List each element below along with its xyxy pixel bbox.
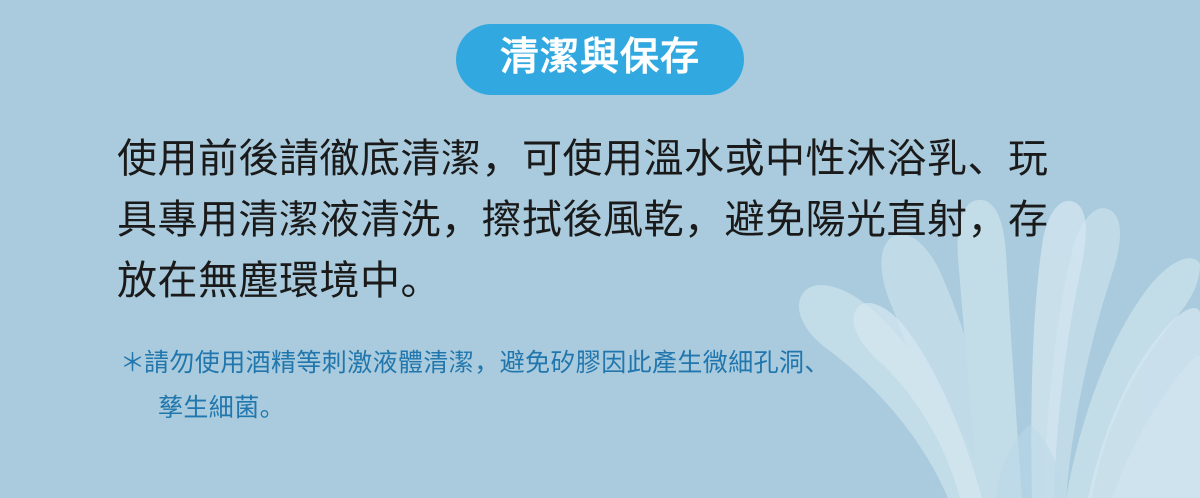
body-line-3: 放在無塵環境中。 xyxy=(117,251,1077,312)
footnote-text-2: 孳生細菌。 xyxy=(158,385,285,430)
body-line-2: 具專用清潔液清洗，擦拭後風乾，避免陽光直射，存 xyxy=(117,190,1077,251)
asterisk-icon: ＊ xyxy=(120,340,144,385)
footnote-line-1: ＊ 請勿使用酒精等刺激液體清潔，避免矽膠因此產生微細孔洞、 xyxy=(120,340,1120,385)
section-title-pill: 清潔與保存 xyxy=(456,24,744,95)
title-area: 清潔與保存 xyxy=(0,24,1200,95)
footnote-text-1: 請勿使用酒精等刺激液體清潔，避免矽膠因此產生微細孔洞、 xyxy=(144,340,830,385)
promo-panel: 清潔與保存 使用前後請徹底清潔，可使用溫水或中性沐浴乳、玩 具專用清潔液清洗，擦… xyxy=(0,0,1200,498)
footnote: ＊ 請勿使用酒精等刺激液體清潔，避免矽膠因此產生微細孔洞、 孳生細菌。 xyxy=(120,340,1120,430)
footnote-line-2: 孳生細菌。 xyxy=(120,385,1120,430)
body-paragraph: 使用前後請徹底清潔，可使用溫水或中性沐浴乳、玩 具專用清潔液清洗，擦拭後風乾，避… xyxy=(117,129,1077,312)
body-line-1: 使用前後請徹底清潔，可使用溫水或中性沐浴乳、玩 xyxy=(117,129,1077,190)
